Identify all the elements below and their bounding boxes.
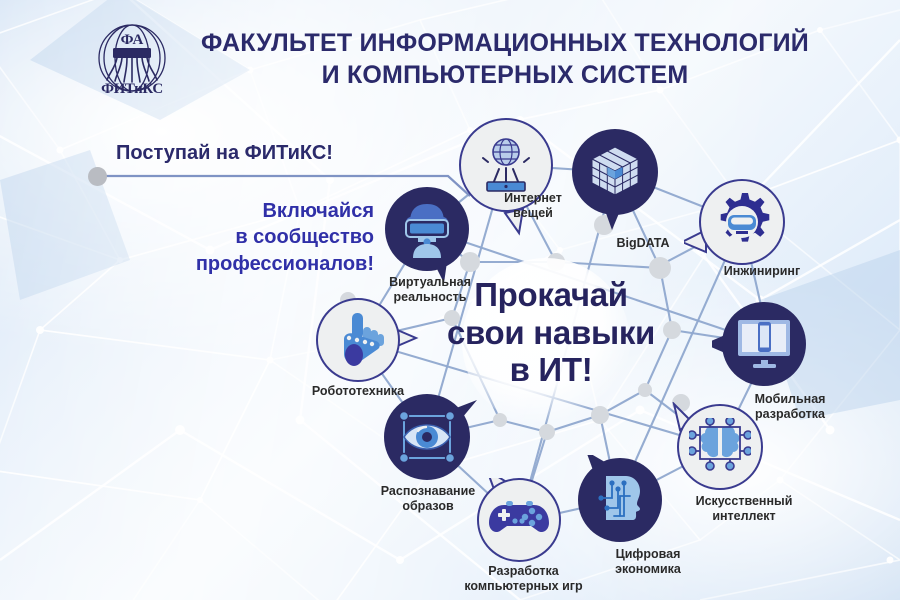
node-label-line-2: реальность xyxy=(350,290,510,305)
logo-fitiks-text: ФИТиКС xyxy=(101,81,163,97)
node-label-engineering: Инжиниринг xyxy=(682,264,842,279)
poster-header: ФА ФИТиКС ФАКУЛЬТЕТ ИНФОРМАЦИОННЫХ ТЕХНО… xyxy=(0,0,900,112)
poster-canvas: ФА ФИТиКС ФАКУЛЬТЕТ ИНФОРМАЦИОННЫХ ТЕХНО… xyxy=(0,0,900,600)
node-label-pattern-recognition: Распознавание образов xyxy=(347,484,509,515)
node-label-line-1: Инжиниринг xyxy=(682,264,842,279)
node-label-line-1: Разработка xyxy=(441,564,606,579)
slogan-secondary-line-2: в сообщество xyxy=(176,224,374,250)
title-line-1: ФАКУЛЬТЕТ ИНФОРМАЦИОННЫХ ТЕХНОЛОГИЙ xyxy=(201,29,809,57)
node-label-artificial-intelligence: Искусственный интеллект xyxy=(664,494,824,525)
headline-line-3: в ИТ! xyxy=(440,351,662,389)
page-title: ФАКУЛЬТЕТ ИНФОРМАЦИОННЫХ ТЕХНОЛОГИЙ И КО… xyxy=(175,27,835,91)
node-label-game-development: Разработка компьютерных игр xyxy=(441,564,606,595)
data-cube-icon xyxy=(586,143,644,201)
node-label-line-1: Распознавание xyxy=(347,484,509,499)
slogan-secondary-line-1: Включайся xyxy=(176,198,374,224)
logo-fa-text: ФА xyxy=(121,32,144,48)
node-label-line-2: компьютерных игр xyxy=(441,579,606,594)
node-label-line-1: Искусственный xyxy=(664,494,824,509)
node-label-line-1: Робототехника xyxy=(278,384,438,399)
title-line-2: И КОМПЬЮТЕРНЫХ СИСТЕМ xyxy=(175,59,835,91)
slogan-secondary-line-3: профессионалов! xyxy=(176,251,374,277)
gear-vr-icon xyxy=(711,191,773,253)
headline-line-2: свои навыки xyxy=(440,314,662,352)
node-label-virtual-reality: Виртуальная реальность xyxy=(350,275,510,306)
slogan-leader-dot xyxy=(88,167,107,186)
node-label-line-1: Цифровая xyxy=(568,547,728,562)
node-label-line-1: Виртуальная xyxy=(350,275,510,290)
eye-tracking-icon xyxy=(396,408,458,466)
node-label-robotics: Робототехника xyxy=(278,384,438,399)
brain-circuit-icon xyxy=(689,418,751,476)
slogan-primary: Поступай на ФИТиКС! xyxy=(116,142,333,165)
slogan-secondary: Включайся в сообщество профессионалов! xyxy=(176,198,374,277)
head-circuit-icon xyxy=(592,472,648,528)
robot-hand-icon xyxy=(334,311,386,369)
node-label-line-2: интеллект xyxy=(664,509,824,524)
vr-person-icon xyxy=(398,200,456,258)
fitiks-logo: ФА ФИТиКС xyxy=(86,18,178,100)
monitor-phone-icon xyxy=(736,318,792,370)
node-label-line-2: образов xyxy=(347,499,509,514)
